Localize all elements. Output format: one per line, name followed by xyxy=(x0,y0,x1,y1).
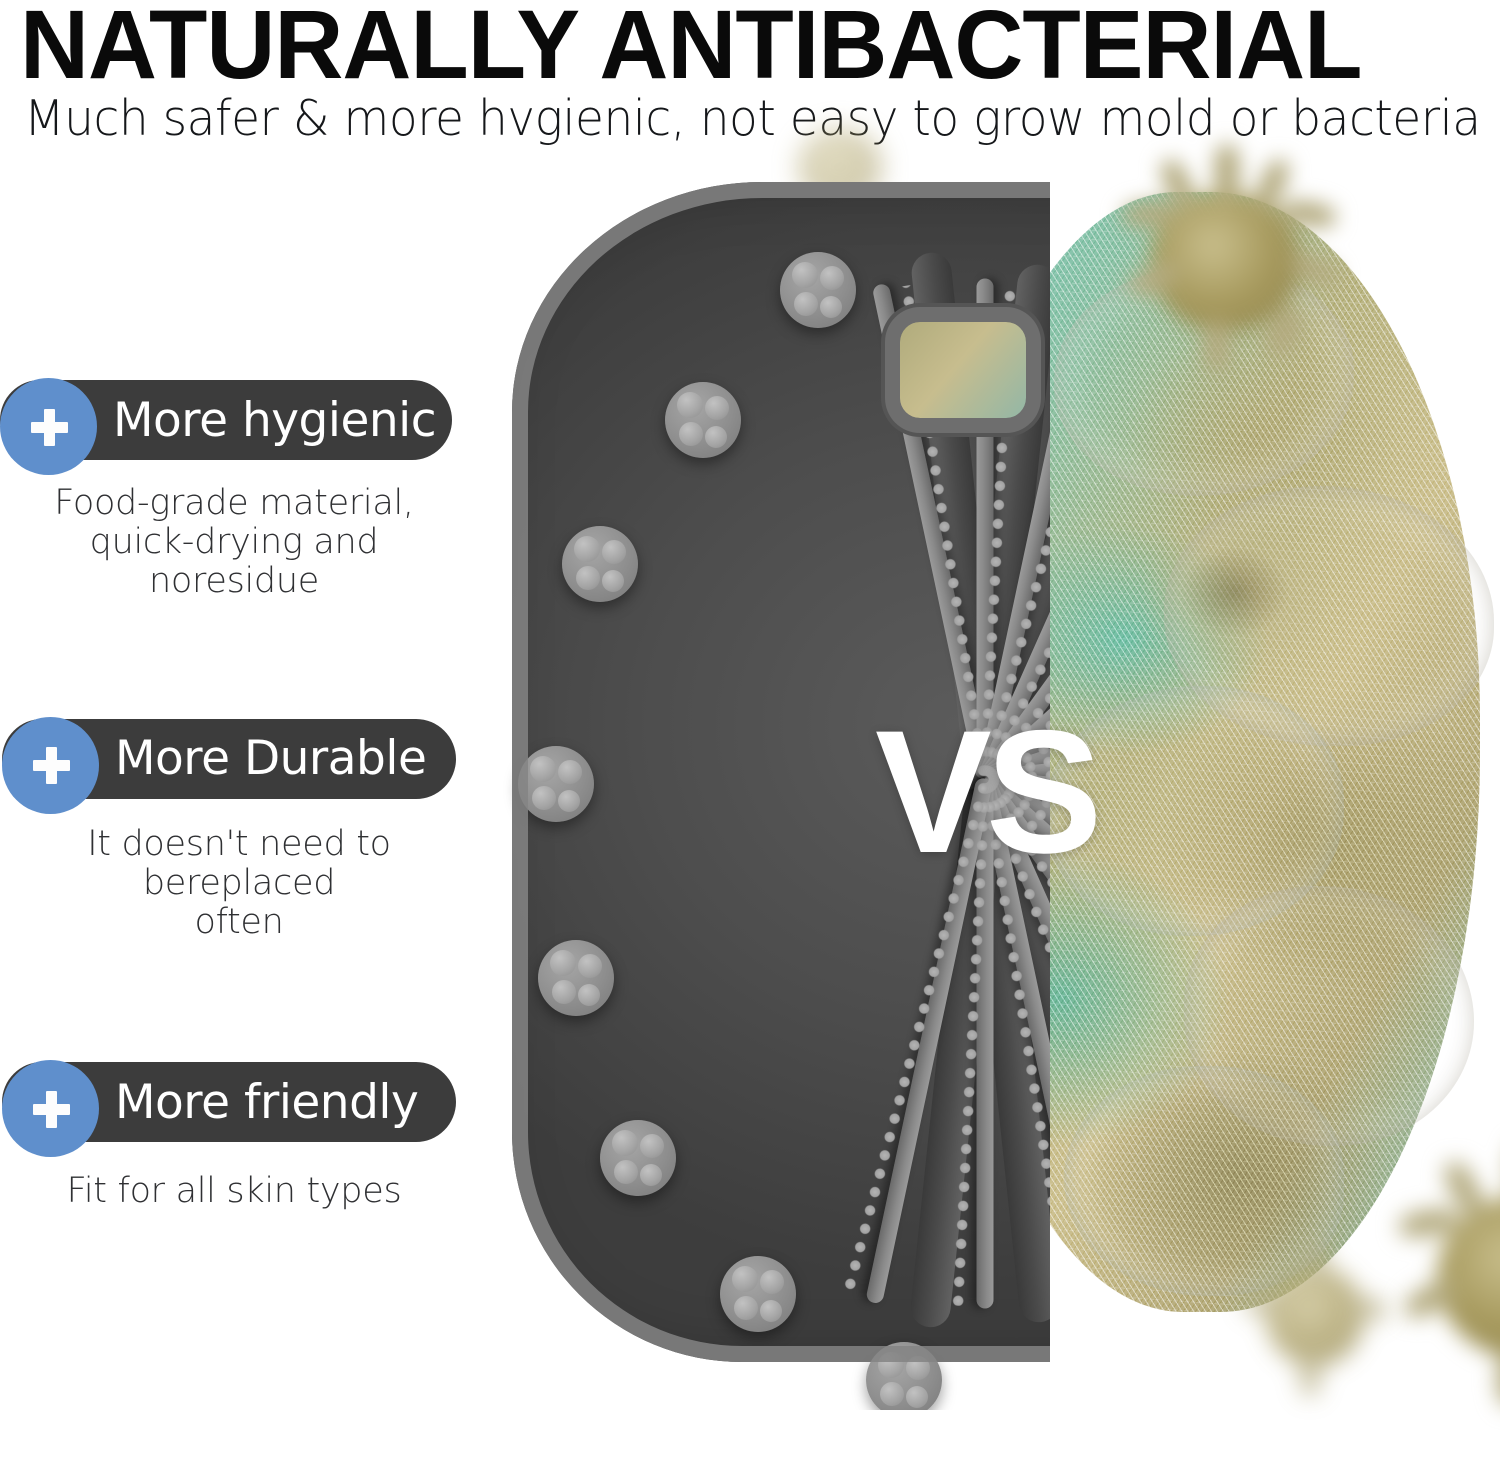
feature-badge-label: More hygienic xyxy=(113,397,436,444)
plus-icon xyxy=(2,1060,99,1157)
bacteria-blob xyxy=(1110,150,1340,365)
feature-description: It doesn't need to bereplaced often xyxy=(0,825,478,943)
product-comparison-image: VS xyxy=(480,160,1500,1459)
plus-icon xyxy=(2,717,99,814)
page-headline: NATURALLY ANTIBACTERIAL xyxy=(20,0,1458,93)
hanging-hole xyxy=(900,322,1026,418)
feature-item-more-hygienic: More hygienic Food-grade material, quick… xyxy=(0,380,500,602)
page-subheadline: Much safer & more hvgienic, not easy to … xyxy=(24,94,1421,143)
bacteria-blob xyxy=(1240,1240,1390,1400)
feature-list: More hygienic Food-grade material, quick… xyxy=(0,380,500,1211)
feature-badge-more-durable: More Durable xyxy=(2,719,456,799)
feature-item-more-friendly: More friendly Fit for all skin types xyxy=(0,1062,500,1211)
product-comparison-infographic: NATURALLY ANTIBACTERIAL Much safer & mor… xyxy=(0,0,1500,1459)
vs-label: VS xyxy=(875,705,1096,880)
feature-badge-more-hygienic: More hygienic xyxy=(0,380,452,460)
feature-item-more-durable: More Durable It doesn't need to bereplac… xyxy=(0,719,500,943)
feature-badge-more-friendly: More friendly xyxy=(2,1062,456,1142)
feature-badge-label: More Durable xyxy=(115,735,426,782)
feature-description: Food-grade material, quick-drying and no… xyxy=(0,484,468,602)
feature-description: Fit for all skin types xyxy=(0,1172,468,1211)
feature-badge-label: More friendly xyxy=(115,1079,418,1126)
plus-icon xyxy=(0,378,97,475)
